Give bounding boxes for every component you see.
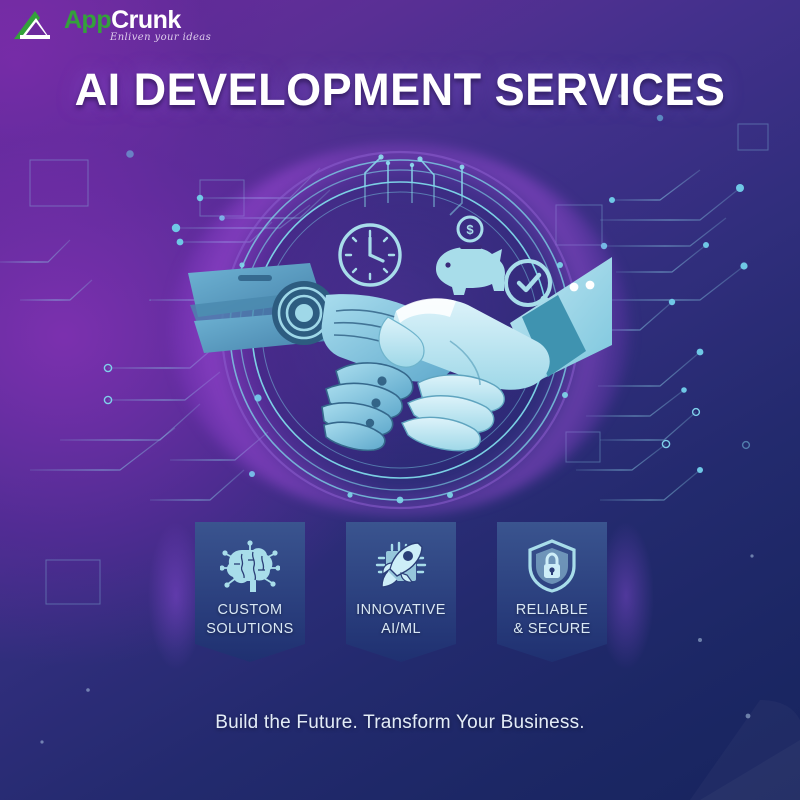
handshake-artwork: $ bbox=[150, 145, 650, 515]
mountain-logo-icon bbox=[10, 8, 62, 42]
brand-name-part2: Crunk bbox=[111, 6, 181, 34]
hero-illustration: $ bbox=[150, 145, 650, 515]
brand-name-part1: App bbox=[64, 6, 111, 34]
poster-canvas: AppCrunk Enliven your ideas AI DEVELOPME… bbox=[0, 0, 800, 800]
badge-custom-solutions[interactable]: CUSTOMSOLUTIONS bbox=[195, 522, 305, 662]
badge-label: RELIABLE& SECURE bbox=[499, 601, 605, 639]
brain-network-icon bbox=[195, 538, 305, 594]
feature-badges: CUSTOMSOLUTIONS bbox=[195, 522, 607, 662]
badge-reliable-secure[interactable]: RELIABLE& SECURE bbox=[497, 522, 607, 662]
shield-lock-icon bbox=[497, 538, 607, 594]
rocket-chip-icon bbox=[346, 538, 456, 594]
clock-icon bbox=[340, 225, 400, 285]
footer-tagline: Build the Future. Transform Your Busines… bbox=[0, 712, 800, 734]
svg-text:$: $ bbox=[466, 222, 474, 237]
brand-wordmark: AppCrunk bbox=[64, 6, 181, 34]
badge-label: INNOVATIVEAI/ML bbox=[348, 601, 454, 639]
brand-logo[interactable]: AppCrunk Enliven your ideas bbox=[10, 4, 210, 50]
brand-tagline: Enliven your ideas bbox=[110, 32, 211, 43]
page-title: AI DEVELOPMENT SERVICES bbox=[0, 64, 800, 116]
badge-label: CUSTOMSOLUTIONS bbox=[197, 601, 303, 639]
badge-innovative-ai-ml[interactable]: INNOVATIVEAI/ML bbox=[346, 522, 456, 662]
